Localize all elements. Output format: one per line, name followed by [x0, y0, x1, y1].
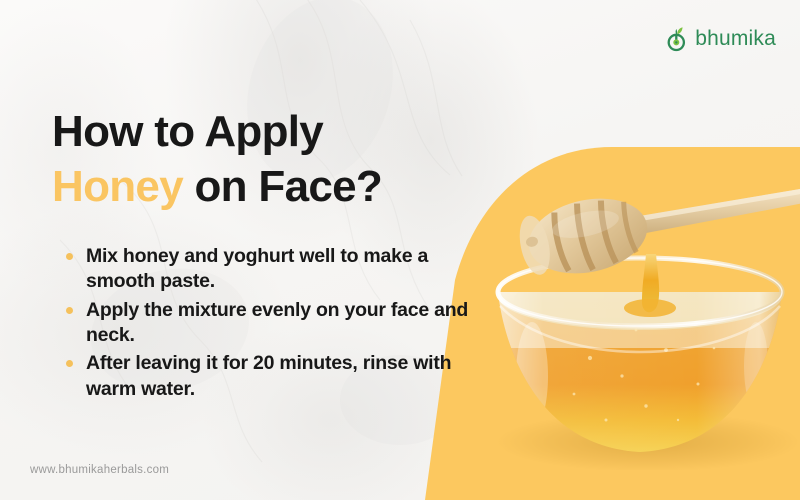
- bullet-dot-icon: [66, 253, 73, 260]
- list-item-text: Mix honey and yoghurt well to make a smo…: [86, 245, 428, 292]
- poster-canvas: bhumika How to Apply Honey on Face? Mix …: [0, 0, 800, 500]
- website-url[interactable]: www.bhumikaherbals.com: [30, 464, 169, 476]
- list-item: Apply the mixture evenly on your face an…: [64, 298, 479, 349]
- list-item-text: After leaving it for 20 minutes, rinse w…: [86, 352, 451, 399]
- leaf-circle-b-icon: [665, 26, 689, 52]
- honey-bowl-with-dipper: [470, 180, 800, 470]
- brand-name: bhumika: [695, 27, 776, 51]
- bullet-dot-icon: [66, 360, 73, 367]
- title-line-2: Honey on Face?: [52, 159, 472, 214]
- title-keyword-honey: Honey: [52, 162, 183, 211]
- list-item: After leaving it for 20 minutes, rinse w…: [64, 351, 479, 402]
- title-line-1: How to Apply: [52, 104, 472, 159]
- page-title: How to Apply Honey on Face?: [52, 104, 472, 215]
- list-item-text: Apply the mixture evenly on your face an…: [86, 299, 468, 346]
- instruction-list: Mix honey and yoghurt well to make a smo…: [64, 244, 479, 405]
- bullet-dot-icon: [66, 307, 73, 314]
- brand-logo[interactable]: bhumika: [665, 26, 776, 52]
- title-line-2-rest: on Face?: [183, 162, 382, 211]
- list-item: Mix honey and yoghurt well to make a smo…: [64, 244, 479, 295]
